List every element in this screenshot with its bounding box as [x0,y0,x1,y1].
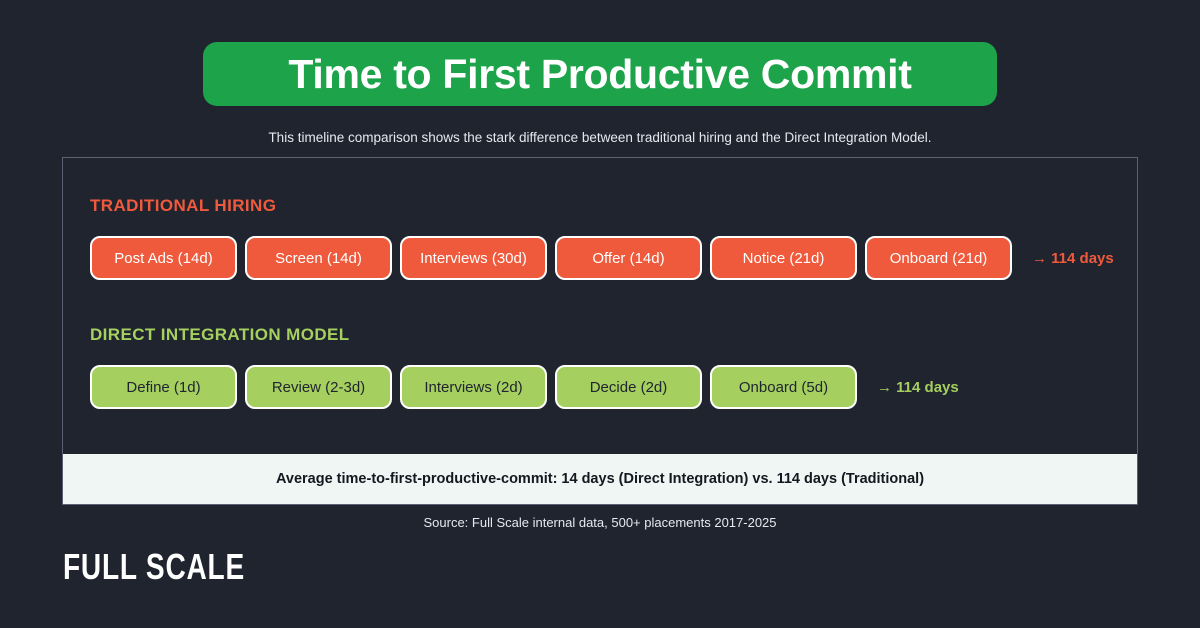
timeline-step[interactable]: Onboard (5d) [710,365,857,409]
total-days-direct: → 114 days [877,380,959,395]
timeline-step[interactable]: Interviews (2d) [400,365,547,409]
section-label-direct: DIRECT INTEGRATION MODEL [90,326,1137,343]
section-traditional-hiring: TRADITIONAL HIRING Post Ads (14d) Screen… [90,197,1137,280]
timeline-step[interactable]: Notice (21d) [710,236,857,280]
timeline-card: TRADITIONAL HIRING Post Ads (14d) Screen… [62,157,1138,505]
summary-banner: Average time-to-first-productive-commit:… [63,454,1137,504]
timeline-step[interactable]: Offer (14d) [555,236,702,280]
timeline-step[interactable]: Decide (2d) [555,365,702,409]
page-title: Time to First Productive Commit [288,54,911,95]
source-note: Source: Full Scale internal data, 500+ p… [0,515,1200,530]
timeline-step[interactable]: Review (2-3d) [245,365,392,409]
timeline-step[interactable]: Define (1d) [90,365,237,409]
section-direct-integration: DIRECT INTEGRATION MODEL Define (1d) Rev… [90,326,1137,409]
timeline-row-direct: Define (1d) Review (2-3d) Interviews (2d… [90,365,1137,409]
subtitle: This timeline comparison shows the stark… [0,130,1200,145]
section-label-traditional: TRADITIONAL HIRING [90,197,1137,214]
timeline-step[interactable]: Interviews (30d) [400,236,547,280]
timeline-step[interactable]: Post Ads (14d) [90,236,237,280]
timeline-step[interactable]: Onboard (21d) [865,236,1012,280]
title-banner: Time to First Productive Commit [203,42,997,106]
total-days-traditional: → 114 days [1032,251,1114,266]
timeline-row-traditional: Post Ads (14d) Screen (14d) Interviews (… [90,236,1137,280]
summary-banner-text: Average time-to-first-productive-commit:… [276,471,924,487]
full-scale-logo: FULL SCALE [63,549,245,585]
timeline-step[interactable]: Screen (14d) [245,236,392,280]
